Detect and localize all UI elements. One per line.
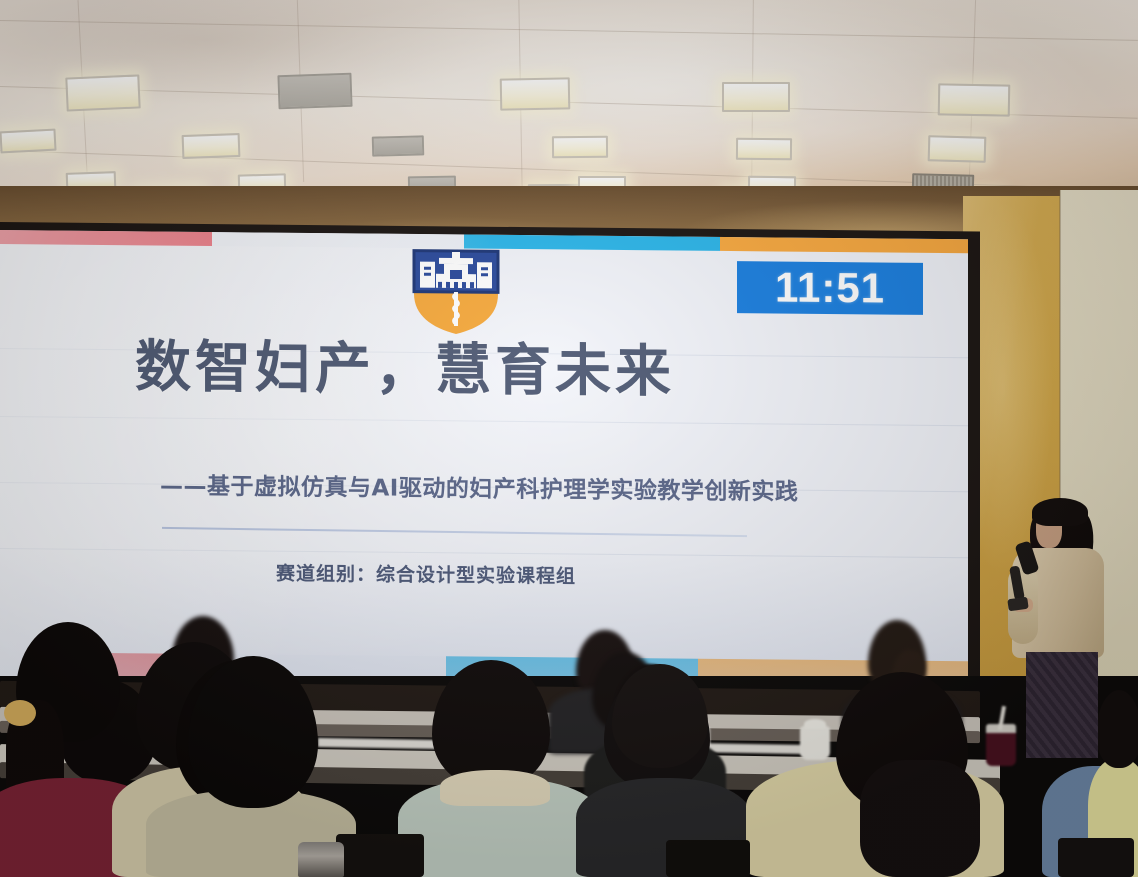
presenter-hair [1032,498,1088,526]
seat-back [336,834,424,877]
timer-value: 11:51 [775,266,885,309]
seat-back [1058,838,1134,877]
university-medical-shield-emblem [408,248,504,337]
ceiling-light [277,73,352,110]
ceiling-light [928,135,987,163]
coat-fur-collar [440,770,550,806]
ceiling-light [0,129,57,154]
attendee-head [1096,690,1138,768]
ceiling-light [65,74,140,111]
teacup-with-lid [800,726,830,760]
ceiling-light [938,83,1011,116]
ceiling-light [736,138,792,160]
slide-track-line: 赛道组别：综合设计型实验课程组 [276,559,736,590]
ceiling-light [500,77,571,110]
rod-of-asclepius-icon [454,292,459,326]
slide-bar-red [0,230,212,246]
attendee-hair [860,760,980,877]
thermos-bottle [298,842,344,877]
presenter-skirt [1026,652,1098,758]
drink-cup [986,724,1016,766]
seat-back [666,840,750,877]
slide-bar-white [212,232,464,248]
ceiling-light [182,133,241,159]
hair-scrunchie [4,700,36,726]
slide-title: 数智妇产，慧育未来 [135,337,835,405]
ceiling-light [722,82,790,112]
shield-icon [408,248,504,337]
teacup-lid [804,719,826,729]
ceiling-light [552,136,608,158]
countdown-timer-badge: 11:51 [737,261,923,315]
lecture-hall-photo: 11:51 数智妇产，慧育未来 ——基于虚拟仿真与AI驱动的妇产科护理学实验教学… [0,0,1138,877]
ceiling-light [372,135,425,156]
slide-bar-orange [720,237,968,253]
slide-subtitle: ——基于虚拟仿真与AI驱动的妇产科护理学实验教学创新实践 [160,466,920,507]
